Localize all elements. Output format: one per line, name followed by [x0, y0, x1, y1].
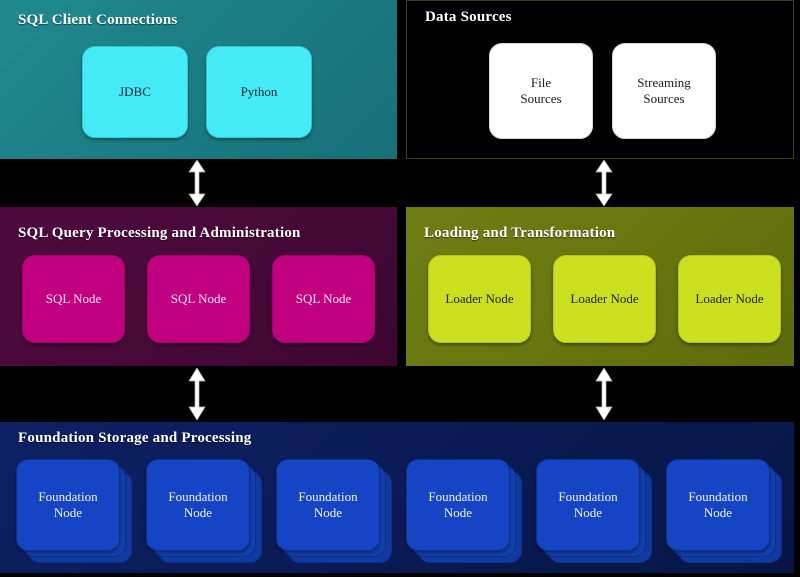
arrow-loading-to-foundation-icon [594, 368, 614, 420]
node-foundation-6[interactable]: Foundation Node [666, 459, 782, 563]
node-loader-3[interactable]: Loader Node [678, 255, 781, 343]
node-loader-1[interactable]: Loader Node [428, 255, 531, 343]
foundation-card-front: Foundation Node [16, 459, 120, 551]
arrow-sources-to-loading-icon [594, 160, 614, 206]
node-sql-1[interactable]: SQL Node [22, 255, 125, 343]
panel-title-data-sources: Data Sources [425, 9, 512, 26]
foundation-card-front: Foundation Node [666, 459, 770, 551]
arrow-client-to-sql-icon [187, 160, 207, 206]
node-file-sources[interactable]: File Sources [489, 43, 593, 139]
node-jdbc[interactable]: JDBC [82, 46, 188, 138]
node-sql-3[interactable]: SQL Node [272, 255, 375, 343]
panel-foundation-storage-processing: Foundation Storage and Processing Founda… [0, 422, 794, 573]
node-foundation-1[interactable]: Foundation Node [16, 459, 132, 563]
panel-title-sql-query-processing: SQL Query Processing and Administration [18, 225, 301, 242]
foundation-card-front: Foundation Node [536, 459, 640, 551]
client-node-row: JDBC Python [82, 46, 312, 138]
node-python[interactable]: Python [206, 46, 312, 138]
panel-title-sql-client-connections: SQL Client Connections [18, 12, 177, 29]
node-foundation-5[interactable]: Foundation Node [536, 459, 652, 563]
node-foundation-3[interactable]: Foundation Node [276, 459, 392, 563]
foundation-card-front: Foundation Node [276, 459, 380, 551]
loader-node-row: Loader Node Loader Node Loader Node [428, 255, 781, 343]
node-sql-2[interactable]: SQL Node [147, 255, 250, 343]
architecture-diagram: SQL Client Connections JDBC Python Data … [0, 0, 800, 577]
foundation-card-front: Foundation Node [406, 459, 510, 551]
node-foundation-2[interactable]: Foundation Node [146, 459, 262, 563]
foundation-node-row: Foundation Node Foundation Node Foundati… [16, 459, 782, 563]
data-sources-node-row: File Sources Streaming Sources [489, 43, 716, 139]
panel-title-foundation-storage-processing: Foundation Storage and Processing [18, 430, 251, 447]
panel-data-sources: Data Sources File Sources Streaming Sour… [406, 0, 794, 159]
panel-sql-client-connections: SQL Client Connections JDBC Python [0, 0, 397, 159]
panel-title-loading-transformation: Loading and Transformation [424, 225, 615, 242]
node-streaming-sources[interactable]: Streaming Sources [612, 43, 716, 139]
arrow-sql-to-foundation-icon [187, 368, 207, 420]
node-loader-2[interactable]: Loader Node [553, 255, 656, 343]
sql-node-row: SQL Node SQL Node SQL Node [22, 255, 375, 343]
foundation-card-front: Foundation Node [146, 459, 250, 551]
node-foundation-4[interactable]: Foundation Node [406, 459, 522, 563]
